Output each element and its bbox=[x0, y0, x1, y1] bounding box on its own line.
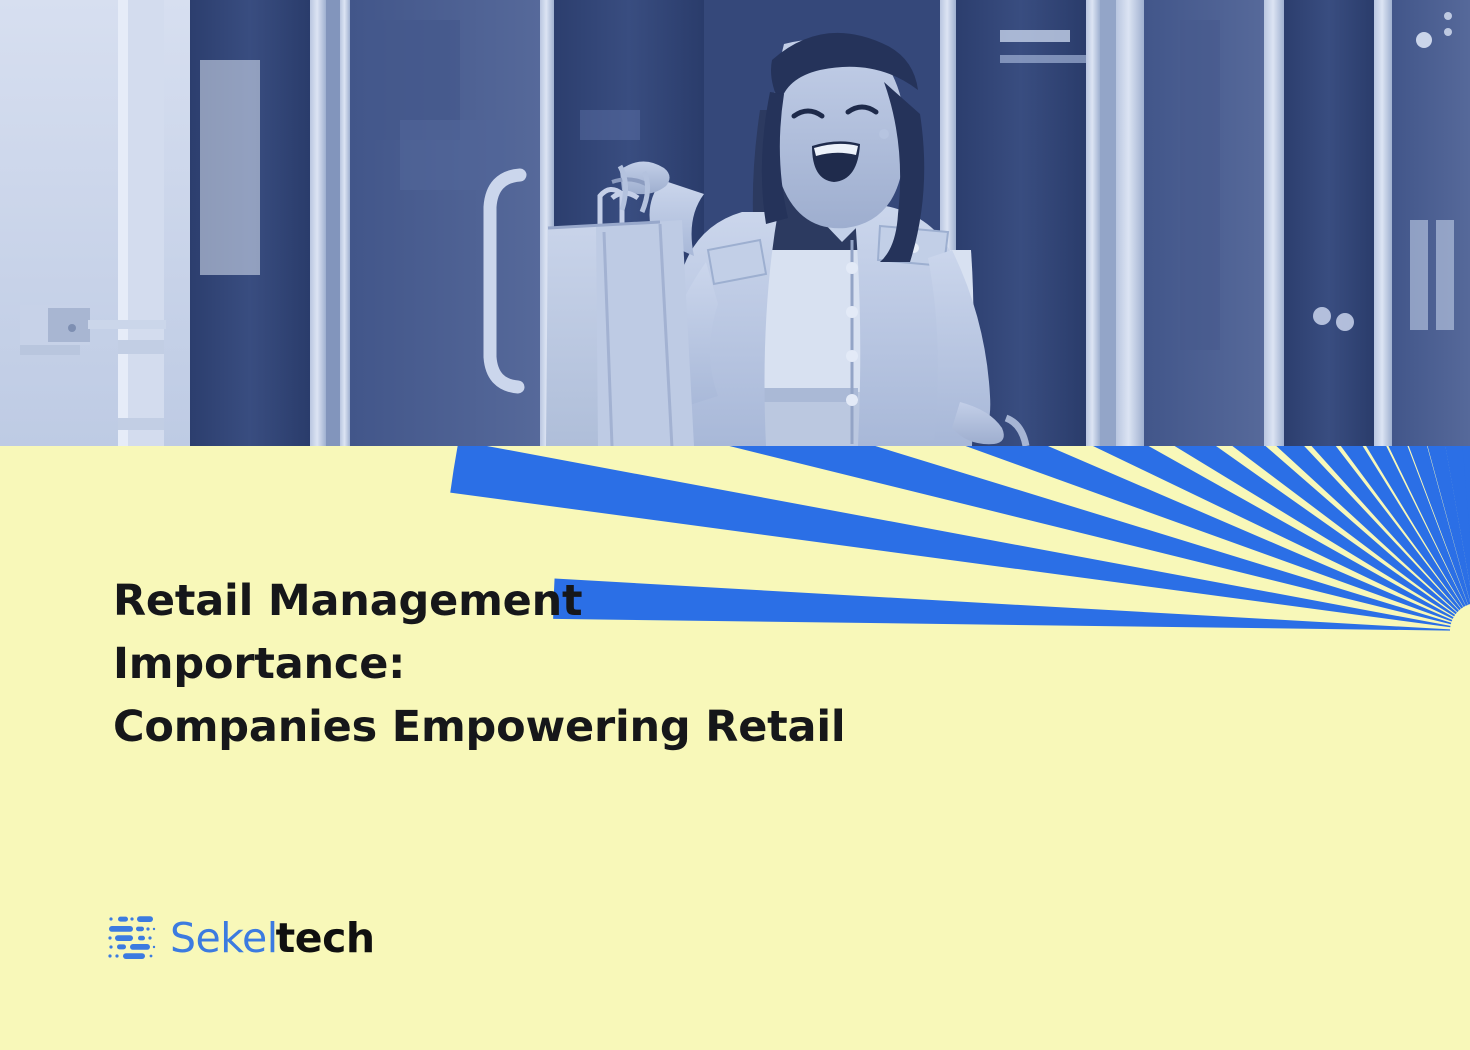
title-line-3: Companies Empowering Retail bbox=[113, 696, 943, 759]
brand-wordmark: Sekeltech bbox=[170, 918, 375, 959]
hero-image bbox=[0, 0, 1470, 446]
cover-slide: Retail Management Importance: Companies … bbox=[0, 0, 1470, 1050]
sekel-data-bars-icon bbox=[105, 912, 157, 964]
brand-logo[interactable]: Sekeltech bbox=[105, 912, 375, 964]
title-line-2: Importance: bbox=[113, 633, 943, 696]
brand-name-primary: Sekel bbox=[170, 918, 278, 959]
title-line-1: Retail Management bbox=[113, 570, 943, 633]
brand-name-secondary: tech bbox=[276, 918, 375, 959]
page-title: Retail Management Importance: Companies … bbox=[113, 570, 943, 759]
